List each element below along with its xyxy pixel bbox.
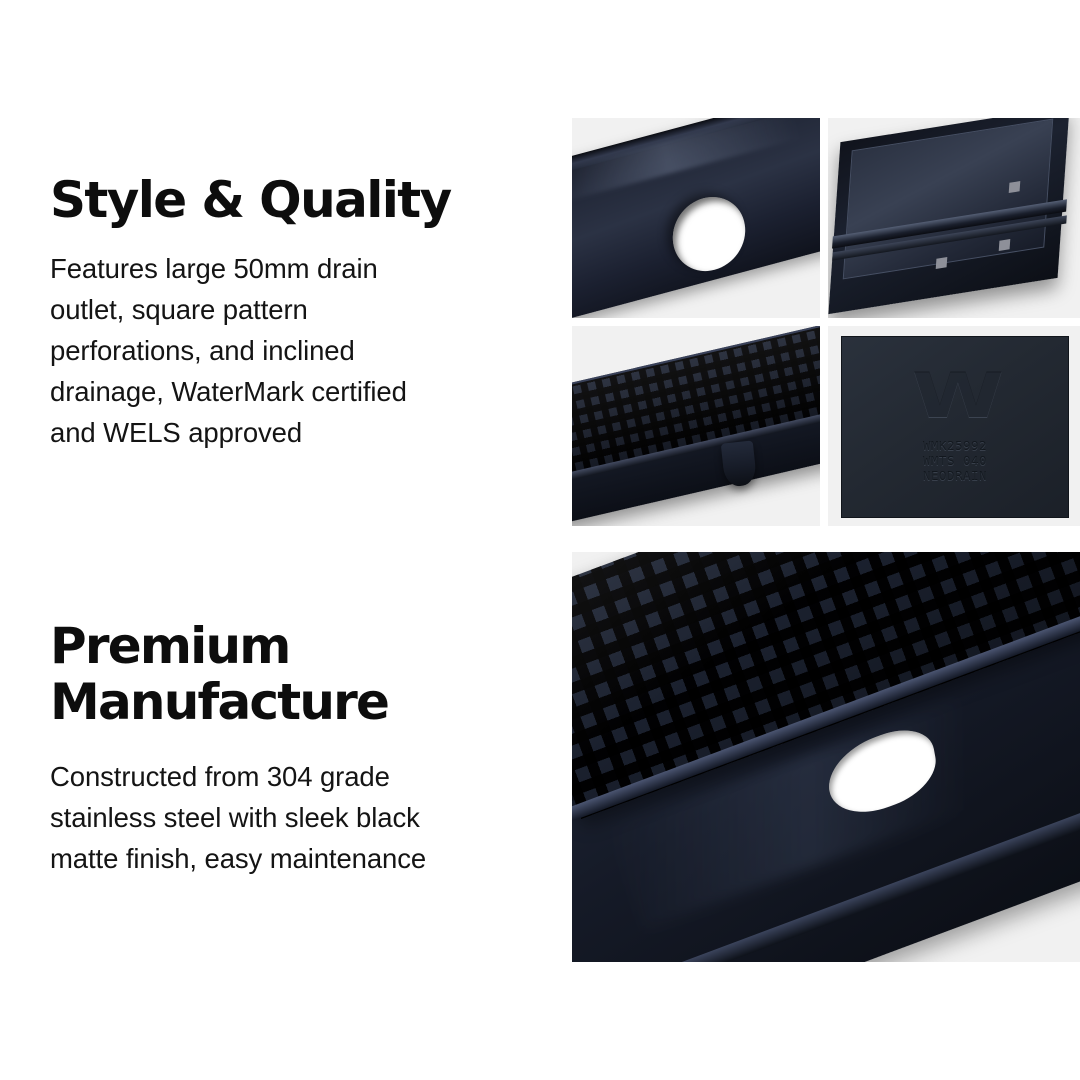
product-feature-panel: Style & Quality Features large 50mm drai… [0, 0, 1080, 1080]
photo-tile-insert-tray-end [828, 118, 1080, 318]
photo-watermark-certification-stamp: W WMK25992 WMTS 040 NEODRAIN [828, 326, 1080, 526]
stamp-plate: W WMK25992 WMTS 040 NEODRAIN [841, 336, 1070, 518]
feature-heading-premium-manufacture: Premium Manufacture [50, 618, 530, 730]
tray-clip [936, 257, 948, 269]
feature-body-style-quality: Features large 50mm drain outlet, square… [50, 248, 520, 453]
watermark-logo-icon: W [912, 366, 999, 426]
tray-clip [1009, 181, 1021, 193]
tray-clip [999, 239, 1011, 251]
photo-drain-outlet-closeup [572, 118, 820, 318]
feature-heading-style-quality: Style & Quality [50, 172, 520, 228]
certification-code-wmts: WMTS 040 [923, 453, 987, 468]
feature-body-premium-manufacture: Constructed from 304 grade stainless ste… [50, 756, 530, 879]
certification-brand-name: NEODRAIN [923, 468, 987, 483]
feature-block-premium-manufacture: Premium Manufacture Constructed from 304… [50, 618, 530, 879]
certification-code-wmk: WMK25992 [923, 438, 987, 453]
photo-hero-grate-and-channel [572, 552, 1080, 962]
feature-block-style-quality: Style & Quality Features large 50mm drai… [50, 172, 520, 453]
photo-square-perforation-grate [572, 326, 820, 526]
